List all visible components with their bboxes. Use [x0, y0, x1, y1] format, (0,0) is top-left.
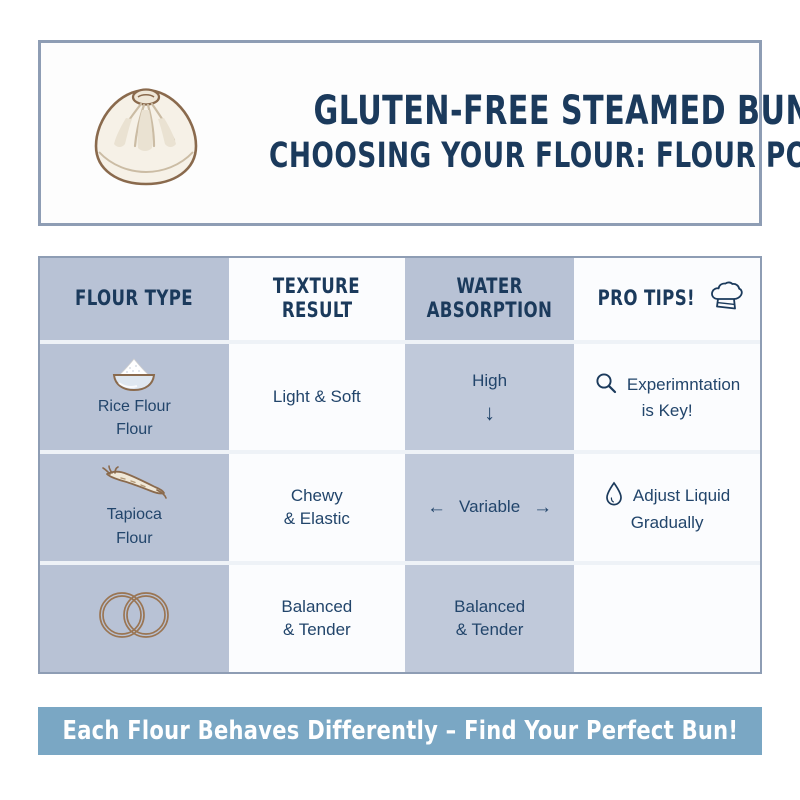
table-row: Tapioca Flour Chewy & Elastic ← Variable… [40, 454, 760, 561]
table-row: Balanced & Tender Balanced & Tender [40, 565, 760, 672]
footer-message: Each Flour Behaves Differently – Find Yo… [62, 716, 738, 746]
cell-texture-result: Balanced & Tender [229, 565, 405, 672]
column-header-label: FLOUR TYPE [75, 287, 193, 311]
texture-line1: Chewy [291, 485, 343, 508]
table-row: Rice Flour Flour Light & Soft High ↓ [40, 344, 760, 451]
cell-flour-type [40, 565, 229, 672]
flour-name-line1: Rice Flour [98, 397, 171, 418]
chef-hat-icon [709, 281, 743, 316]
arrow-down-icon: ↓ [484, 402, 495, 424]
cell-flour-type: Rice Flour Flour [40, 344, 229, 451]
texture-line2: & Elastic [284, 508, 350, 531]
cell-water-absorption: High ↓ [405, 344, 574, 451]
column-header-pro-tips: PRO TIPS! [574, 258, 760, 340]
tip-line2: Gradually [631, 512, 704, 535]
cell-flour-type: Tapioca Flour [40, 454, 229, 561]
texture-line1: Light & Soft [273, 386, 361, 409]
column-header-label-line1: WATER [456, 275, 522, 299]
flour-name-line2: Flour [116, 529, 152, 550]
cell-pro-tip: Adjust Liquid Gradually [574, 454, 760, 561]
column-header-label: PRO TIPS! [597, 287, 694, 311]
texture-line2: & Tender [283, 619, 351, 642]
tip-line1: Adjust Liquid [633, 485, 730, 508]
footer-banner: Each Flour Behaves Differently – Find Yo… [38, 707, 762, 755]
flour-name-line2: Flour [116, 420, 152, 441]
column-header-label-line2: ABSORPTION [427, 299, 553, 323]
steamed-bun-icon [81, 68, 211, 198]
arrow-right-icon: → [533, 497, 552, 519]
table-header-row: FLOUR TYPE TEXTURE RESULT WATER ABSORPTI… [40, 258, 760, 340]
column-header-texture-result: TEXTURE RESULT [229, 258, 405, 340]
cell-texture-result: Chewy & Elastic [229, 454, 405, 561]
infographic-page: GLUTEN-FREE STEAMED BUNS CHOOSING YOUR F… [0, 0, 800, 800]
water-drop-icon [604, 481, 624, 512]
tip-line1: Experimntation [627, 374, 740, 397]
tip-line2: is Key! [642, 400, 693, 423]
absorption-value: Balanced [454, 596, 525, 619]
absorption-line2: & Tender [456, 619, 524, 642]
flour-bowl-icon [107, 353, 161, 393]
cell-water-absorption: Balanced & Tender [405, 565, 574, 672]
arrow-left-icon: ← [427, 497, 446, 519]
page-subtitle: CHOOSING YOUR FLOUR: FLOUR POWRS [269, 137, 800, 176]
cell-water-absorption: ← Variable → [405, 454, 574, 561]
header-title-block: GLUTEN-FREE STEAMED BUNS CHOOSING YOUR F… [211, 90, 800, 176]
column-header-label-line2: RESULT [282, 299, 353, 323]
page-title: GLUTEN-FREE STEAMED BUNS [314, 90, 800, 133]
cassava-root-icon [101, 465, 167, 501]
magnifier-icon [594, 371, 618, 400]
absorption-value: High [472, 370, 507, 393]
cell-texture-result: Light & Soft [229, 344, 405, 451]
absorption-value: Variable [459, 496, 520, 519]
cell-pro-tip [574, 565, 760, 672]
texture-line1: Balanced [281, 596, 352, 619]
flour-name-line1: Tapioca [107, 505, 162, 526]
header-banner: GLUTEN-FREE STEAMED BUNS CHOOSING YOUR F… [38, 40, 762, 226]
column-header-flour-type: FLOUR TYPE [40, 258, 229, 340]
interlocking-rings-icon [91, 585, 177, 645]
flour-comparison-table: FLOUR TYPE TEXTURE RESULT WATER ABSORPTI… [38, 256, 762, 674]
column-header-label-line1: TEXTURE [273, 275, 360, 299]
cell-pro-tip: Experimntation is Key! [574, 344, 760, 451]
column-header-water-absorption: WATER ABSORPTION [405, 258, 574, 340]
